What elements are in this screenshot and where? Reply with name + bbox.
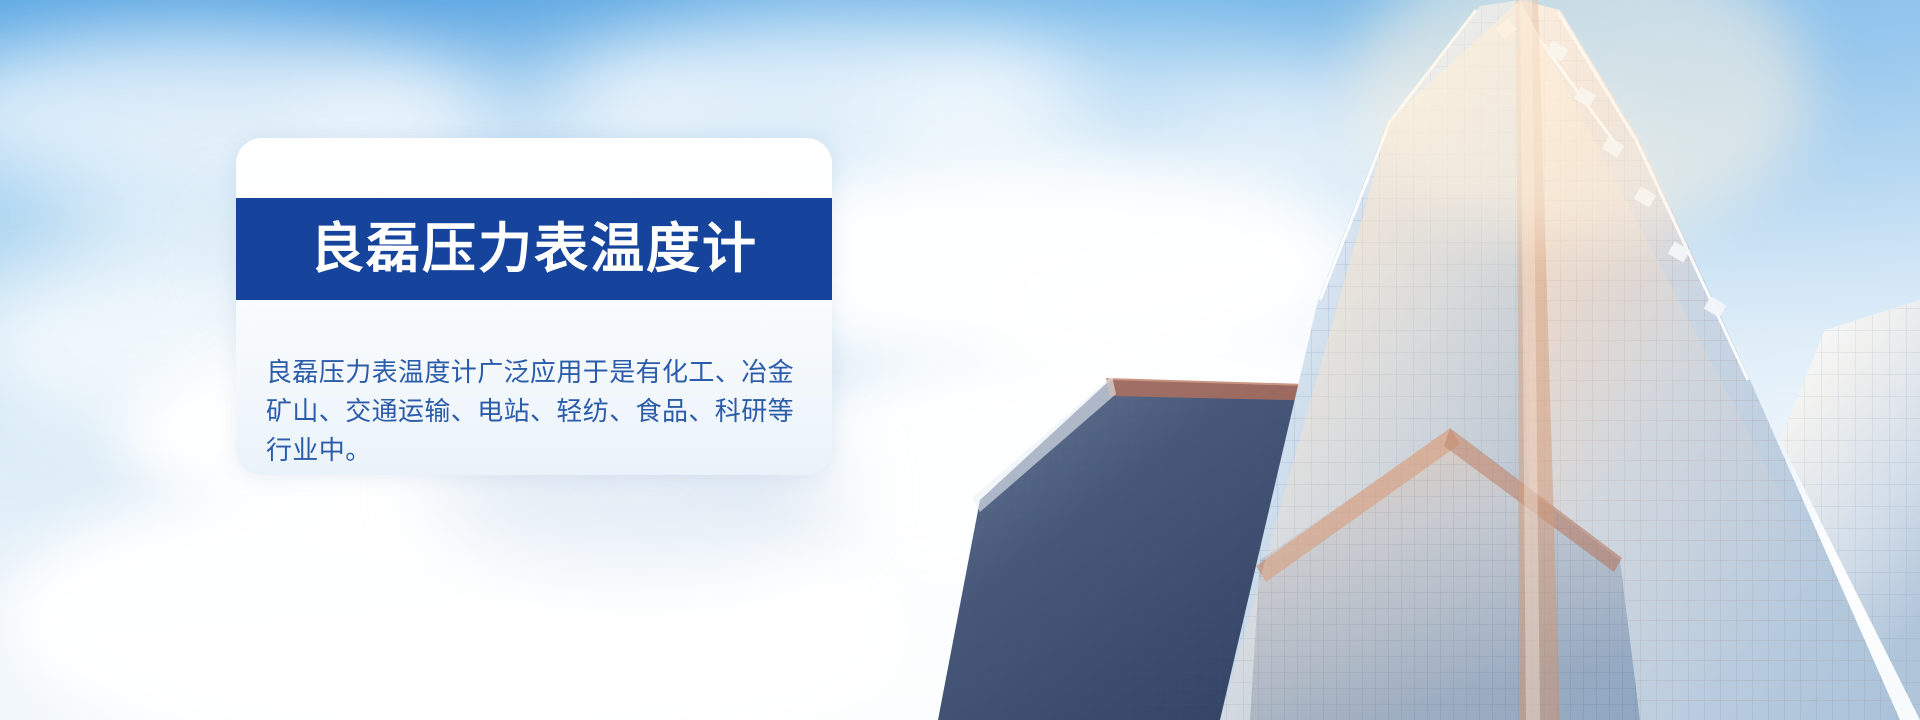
card-title-bar: 良磊压力表温度计 — [236, 198, 832, 300]
building-illustration — [920, 0, 1920, 720]
banner-root: 良磊压力表温度计 良磊压力表温度计广泛应用于是有化工、冶金矿山、交通运输、电站、… — [0, 0, 1920, 720]
promo-card: 良磊压力表温度计 良磊压力表温度计广泛应用于是有化工、冶金矿山、交通运输、电站、… — [236, 138, 832, 475]
page-title: 良磊压力表温度计 — [310, 222, 758, 276]
card-description: 良磊压力表温度计广泛应用于是有化工、冶金矿山、交通运输、电站、轻纺、食品、科研等… — [266, 354, 808, 471]
